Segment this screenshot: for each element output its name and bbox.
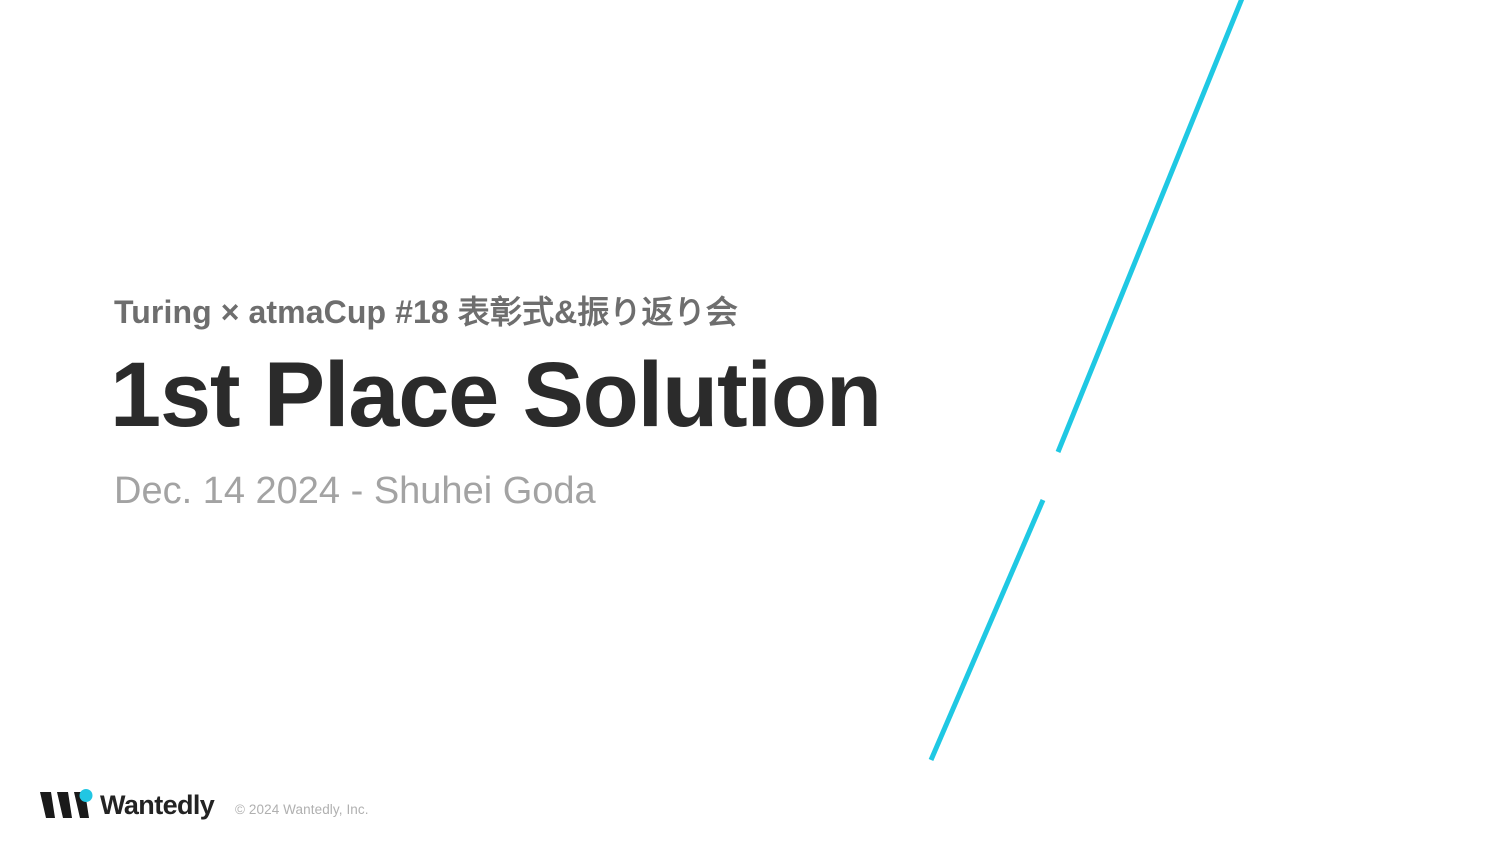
presentation-slide: Turing × atmaCup #18 表彰式&振り返り会 1st Place… (0, 0, 1500, 844)
svg-text:Wantedly: Wantedly (100, 790, 215, 820)
wantedly-w-mark-icon (36, 788, 96, 822)
slide-title: 1st Place Solution (110, 348, 1094, 444)
copyright-text: © 2024 Wantedly, Inc. (235, 802, 369, 822)
w-stroke-2 (57, 792, 72, 818)
w-mark-dot-icon (80, 789, 93, 802)
w-stroke-1 (40, 792, 55, 818)
wantedly-logo: Wantedly (36, 788, 222, 822)
lower-diagonal-line (931, 500, 1043, 760)
slide-eyebrow: Turing × atmaCup #18 表彰式&振り返り会 (114, 294, 1094, 332)
title-block: Turing × atmaCup #18 表彰式&振り返り会 1st Place… (114, 294, 1094, 515)
slide-subtitle: Dec. 14 2024 - Shuhei Goda (114, 469, 1094, 515)
wantedly-wordmark: Wantedly (100, 788, 222, 822)
slide-footer: Wantedly © 2024 Wantedly, Inc. (36, 788, 369, 822)
